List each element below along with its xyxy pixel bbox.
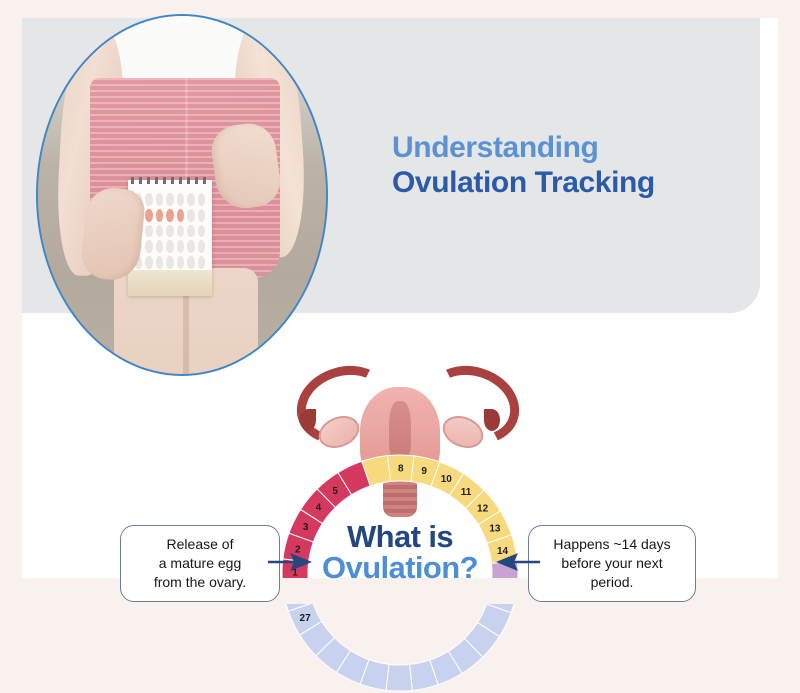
title-line-understanding: Understanding [392,130,742,165]
cycle-day-label: 4 [316,502,322,513]
calendar-day-cell [156,225,163,238]
calendar-day-cell [177,225,184,238]
page-title: Understanding Ovulation Tracking [392,130,742,201]
calendar-day-cell [198,209,205,222]
cycle-day-label: 12 [477,504,489,515]
calendar-day-cell [177,240,184,253]
cycle-day-label: 27 [300,613,312,624]
cycle-day-label: 8 [398,463,404,474]
callout-left-line3: from the ovary. [131,573,269,592]
calendar-day-cell [156,193,163,206]
cycle-day-label: 10 [441,474,453,485]
callout-happens-14-days: Happens ~14 days before your next period… [528,525,696,602]
calendar-day-cell [145,256,152,269]
calendar-spiral-rings [131,177,209,184]
arrow-left-pointing-icon [496,551,540,573]
callout-right-line1: Happens ~14 days [539,535,685,554]
cycle-day-label: 9 [421,466,427,477]
calendar-day-cell [166,209,173,222]
bottom-section: 123458910111213142728 What is Ovulation?… [22,313,778,578]
calendar-day-cell [166,256,173,269]
calendar-day-cell [166,225,173,238]
calendar-day-cell [177,256,184,269]
callout-left-line1: Release of [131,535,269,554]
calendar-day-cell [145,209,152,222]
fimbria-right-icon [484,409,500,431]
calendar-day-cell [187,256,194,269]
calendar-day-cell [198,193,205,206]
callout-release-of-egg: Release of a mature egg from the ovary. [120,525,280,602]
arrow-right-pointing-icon [268,551,312,573]
cycle-day-segment [386,664,412,691]
center-headline: What is Ovulation? [300,521,500,585]
calendar-day-cell [187,240,194,253]
content-card: Understanding Ovulation Tracking [22,18,778,578]
infographic-canvas: Understanding Ovulation Tracking [0,0,800,600]
calendar-day-cell [198,225,205,238]
calendar-day-cell [198,256,205,269]
calendar-day-cell [156,209,163,222]
calendar-day-cell [145,193,152,206]
calendar-day-cell [156,256,163,269]
calendar-day-cell [187,225,194,238]
callout-right-line2: before your next [539,554,685,573]
headline-ovulation: Ovulation? [300,552,500,585]
calendar-day-cell [177,193,184,206]
calendar-day-cell [198,240,205,253]
calendar-stand [128,270,212,296]
headline-what-is: What is [300,521,500,552]
calendar-day-cell [145,240,152,253]
calendar-day-grid [134,192,206,270]
cycle-day-label: 11 [461,487,472,498]
callout-left-line2: a mature egg [131,554,269,573]
calendar-day-cell [145,225,152,238]
callout-right-line3: period. [539,573,685,592]
cycle-day-label: 5 [332,486,338,497]
title-line-ovulation-tracking: Ovulation Tracking [392,165,742,200]
fimbria-left-icon [300,409,316,431]
calendar-day-cell [166,240,173,253]
calendar-day-cell [166,193,173,206]
calendar-day-cell [187,209,194,222]
calendar-day-cell [187,193,194,206]
calendar-day-cell [156,240,163,253]
calendar-day-cell [177,209,184,222]
